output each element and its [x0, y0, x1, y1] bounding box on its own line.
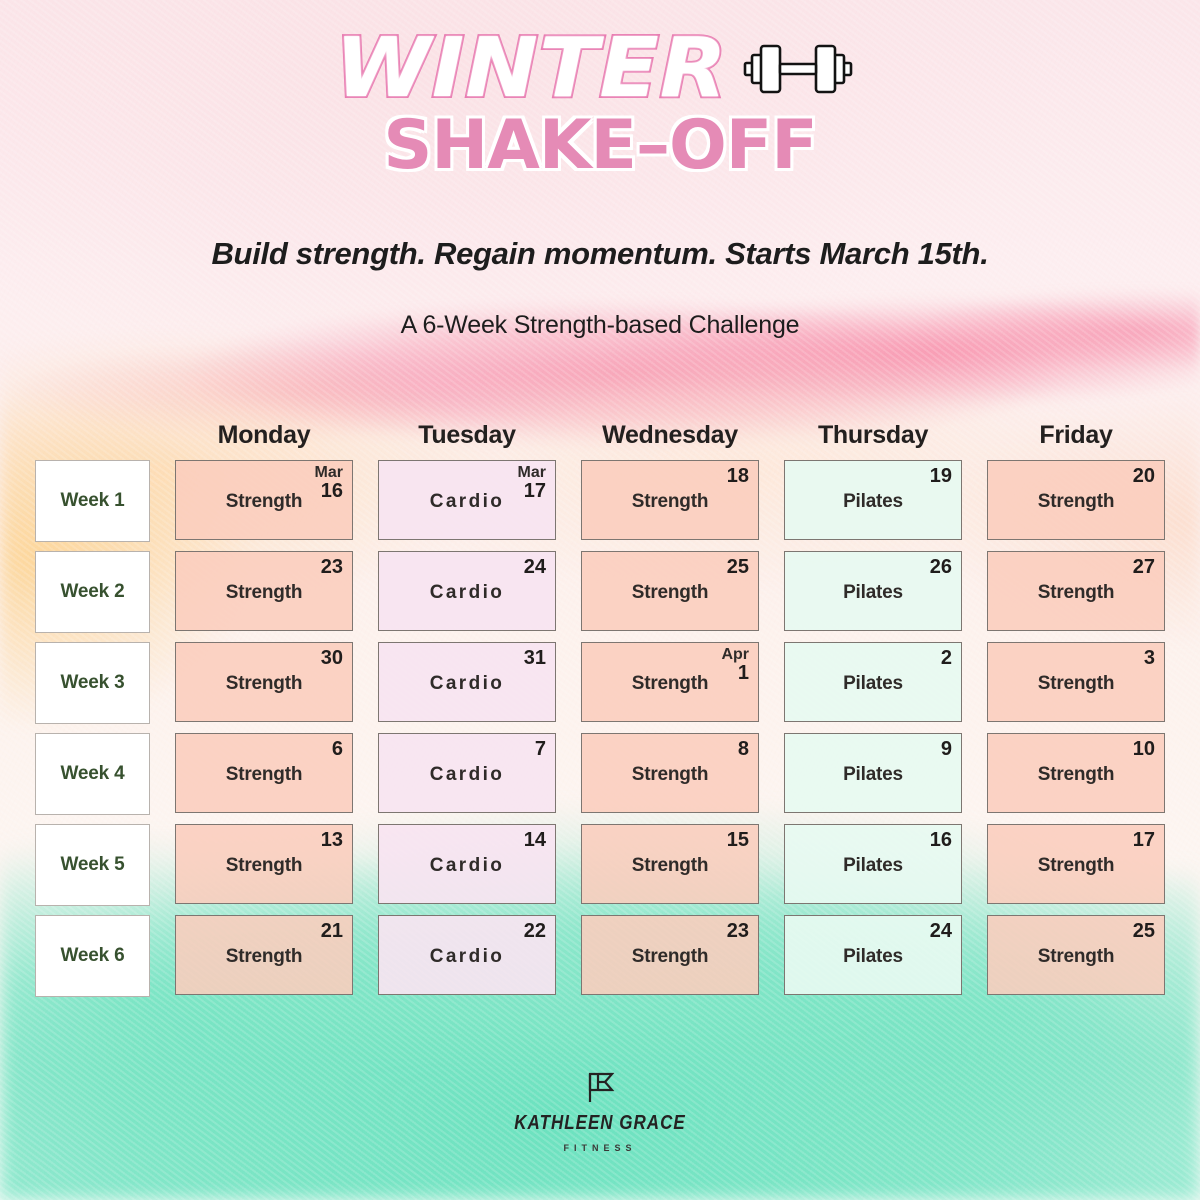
date-badge: Mar17 [518, 465, 546, 502]
day-header-thursday: Thursday [784, 421, 962, 450]
date-number: 27 [1133, 557, 1155, 577]
date-number: 16 [930, 830, 952, 850]
date-number: 24 [930, 921, 952, 941]
activity-label: Strength [632, 582, 709, 604]
day-cell-pilates[interactable]: Pilates19 [784, 460, 962, 540]
day-cell-strength[interactable]: Strength23 [581, 915, 759, 995]
date-number: 8 [738, 739, 749, 759]
day-cell-pilates[interactable]: Pilates9 [784, 733, 962, 813]
date-number: 9 [941, 739, 952, 759]
date-badge: 24 [524, 557, 546, 577]
header-title-block: WINTER SHAKE–OFF [0, 26, 1200, 184]
date-number: 17 [518, 481, 546, 501]
date-number: 31 [524, 648, 546, 668]
poster-title-shake-off: SHAKE–OFF [0, 108, 1200, 184]
activity-label: Strength [1038, 946, 1115, 968]
kg-flag-logo-icon [585, 1072, 615, 1109]
date-badge: 20 [1133, 466, 1155, 486]
brand-footer: KATHLEEN GRACE FITNESS [0, 1072, 1200, 1153]
activity-label: Pilates [843, 764, 903, 786]
date-badge: 2 [941, 648, 952, 668]
date-badge: 22 [524, 921, 546, 941]
activity-label: Strength [226, 491, 303, 513]
day-cell-strength[interactable]: Strength17 [987, 824, 1165, 904]
date-badge: 25 [727, 557, 749, 577]
date-number: 15 [727, 830, 749, 850]
date-badge: 27 [1133, 557, 1155, 577]
day-cell-strength[interactable]: Strength23 [175, 551, 353, 631]
day-cell-strength[interactable]: Strength15 [581, 824, 759, 904]
activity-label: Pilates [843, 855, 903, 877]
activity-label: Strength [1038, 491, 1115, 513]
activity-label: Strength [1038, 673, 1115, 695]
day-cell-strength[interactable]: Strength25 [581, 551, 759, 631]
calendar-week-row: Week 4Strength6Cardio7Strength8Pilates9S… [35, 733, 1165, 815]
day-cell-strength[interactable]: Strength20 [987, 460, 1165, 540]
poster-canvas: WINTER SHAKE–OFF [0, 0, 1200, 1200]
day-cell-cardio[interactable]: Cardio31 [378, 642, 556, 722]
activity-label: Strength [226, 946, 303, 968]
date-number: 25 [1133, 921, 1155, 941]
date-badge: 17 [1133, 830, 1155, 850]
date-number: 22 [524, 921, 546, 941]
date-number: 7 [535, 739, 546, 759]
date-badge: 24 [930, 921, 952, 941]
day-cell-cardio[interactable]: Cardio24 [378, 551, 556, 631]
day-cell-strength[interactable]: Strength25 [987, 915, 1165, 995]
week-label-cell[interactable]: Week 2 [35, 551, 150, 633]
date-badge: 19 [930, 466, 952, 486]
date-badge: 16 [930, 830, 952, 850]
activity-label: Cardio [430, 582, 505, 604]
day-cell-strength[interactable]: Strength30 [175, 642, 353, 722]
date-badge: 13 [321, 830, 343, 850]
week-label-cell[interactable]: Week 5 [35, 824, 150, 906]
brand-name: KATHLEEN GRACE [514, 1111, 685, 1135]
week-label-cell[interactable]: Week 1 [35, 460, 150, 542]
week-label-cell[interactable]: Week 6 [35, 915, 150, 997]
date-badge: 25 [1133, 921, 1155, 941]
activity-label: Pilates [843, 582, 903, 604]
day-cell-strength[interactable]: Strength8 [581, 733, 759, 813]
poster-subtitle: A 6-Week Strength-based Challenge [0, 311, 1200, 340]
date-number: 16 [315, 481, 343, 501]
calendar-week-row: Week 2Strength23Cardio24Strength25Pilate… [35, 551, 1165, 633]
day-header-friday: Friday [987, 421, 1165, 450]
date-badge: Apr1 [721, 647, 749, 684]
activity-label: Cardio [430, 946, 505, 968]
activity-label: Strength [226, 673, 303, 695]
day-cell-cardio[interactable]: CardioMar17 [378, 460, 556, 540]
date-number: 23 [727, 921, 749, 941]
week-label-cell[interactable]: Week 4 [35, 733, 150, 815]
day-cell-pilates[interactable]: Pilates26 [784, 551, 962, 631]
title-line-one-row: WINTER [0, 26, 1200, 112]
day-header-row: Monday Tuesday Wednesday Thursday Friday [35, 410, 1165, 460]
activity-label: Pilates [843, 491, 903, 513]
date-number: 30 [321, 648, 343, 668]
activity-label: Cardio [430, 491, 505, 513]
date-number: 10 [1133, 739, 1155, 759]
day-cell-strength[interactable]: Strength21 [175, 915, 353, 995]
activity-label: Strength [1038, 582, 1115, 604]
date-badge: 10 [1133, 739, 1155, 759]
activity-label: Pilates [843, 673, 903, 695]
day-cell-strength[interactable]: Strength6 [175, 733, 353, 813]
day-cell-pilates[interactable]: Pilates2 [784, 642, 962, 722]
activity-label: Strength [226, 855, 303, 877]
date-badge: 21 [321, 921, 343, 941]
activity-label: Strength [1038, 855, 1115, 877]
date-number: 1 [721, 663, 749, 683]
date-badge: 31 [524, 648, 546, 668]
date-month-label: Mar [518, 465, 546, 481]
day-cell-pilates[interactable]: Pilates24 [784, 915, 962, 995]
activity-label: Strength [632, 855, 709, 877]
day-header-wednesday: Wednesday [581, 421, 759, 450]
date-number: 17 [1133, 830, 1155, 850]
day-cell-strength[interactable]: Strength3 [987, 642, 1165, 722]
date-number: 19 [930, 466, 952, 486]
date-badge: 23 [321, 557, 343, 577]
activity-label: Cardio [430, 673, 505, 695]
date-month-label: Apr [721, 647, 749, 663]
date-badge: 3 [1144, 648, 1155, 668]
day-header-tuesday: Tuesday [378, 421, 556, 450]
date-number: 14 [524, 830, 546, 850]
activity-label: Strength [632, 946, 709, 968]
date-number: 2 [941, 648, 952, 668]
day-cell-cardio[interactable]: Cardio14 [378, 824, 556, 904]
activity-label: Strength [632, 764, 709, 786]
poster-tagline: Build strength. Regain momentum. Starts … [0, 236, 1200, 272]
date-number: 26 [930, 557, 952, 577]
day-cell-strength[interactable]: Strength10 [987, 733, 1165, 813]
poster-title-winter: WINTER [335, 26, 728, 112]
week-label-cell[interactable]: Week 3 [35, 642, 150, 724]
date-badge: 26 [930, 557, 952, 577]
calendar-weeks-container: Week 1StrengthMar16CardioMar17Strength18… [35, 460, 1165, 997]
activity-label: Strength [632, 673, 709, 695]
day-cell-cardio[interactable]: Cardio7 [378, 733, 556, 813]
activity-label: Strength [226, 764, 303, 786]
activity-label: Strength [632, 491, 709, 513]
day-cell-strength[interactable]: StrengthMar16 [175, 460, 353, 540]
date-number: 20 [1133, 466, 1155, 486]
date-number: 3 [1144, 648, 1155, 668]
date-number: 6 [332, 739, 343, 759]
activity-label: Cardio [430, 764, 505, 786]
day-cell-strength[interactable]: Strength27 [987, 551, 1165, 631]
calendar-week-row: Week 6Strength21Cardio22Strength23Pilate… [35, 915, 1165, 997]
date-number: 18 [727, 466, 749, 486]
date-badge: 30 [321, 648, 343, 668]
date-number: 13 [321, 830, 343, 850]
date-badge: Mar16 [315, 465, 343, 502]
date-badge: 8 [738, 739, 749, 759]
day-cell-cardio[interactable]: Cardio22 [378, 915, 556, 995]
day-cell-strength[interactable]: StrengthApr1 [581, 642, 759, 722]
challenge-calendar: Monday Tuesday Wednesday Thursday Friday… [35, 410, 1165, 1006]
activity-label: Cardio [430, 855, 505, 877]
calendar-week-row: Week 3Strength30Cardio31StrengthApr1Pila… [35, 642, 1165, 724]
date-number: 24 [524, 557, 546, 577]
day-cell-strength[interactable]: Strength13 [175, 824, 353, 904]
activity-label: Pilates [843, 946, 903, 968]
activity-label: Strength [226, 582, 303, 604]
date-number: 21 [321, 921, 343, 941]
day-header-monday: Monday [175, 421, 353, 450]
date-month-label: Mar [315, 465, 343, 481]
date-badge: 18 [727, 466, 749, 486]
date-badge: 23 [727, 921, 749, 941]
date-badge: 9 [941, 739, 952, 759]
calendar-week-row: Week 5Strength13Cardio14Strength15Pilate… [35, 824, 1165, 906]
calendar-week-row: Week 1StrengthMar16CardioMar17Strength18… [35, 460, 1165, 542]
date-number: 25 [727, 557, 749, 577]
date-number: 23 [321, 557, 343, 577]
dumbbell-icon [742, 40, 854, 103]
date-badge: 6 [332, 739, 343, 759]
brand-sub-label: FITNESS [563, 1143, 636, 1153]
date-badge: 15 [727, 830, 749, 850]
date-badge: 14 [524, 830, 546, 850]
date-badge: 7 [535, 739, 546, 759]
activity-label: Strength [1038, 764, 1115, 786]
day-cell-strength[interactable]: Strength18 [581, 460, 759, 540]
day-cell-pilates[interactable]: Pilates16 [784, 824, 962, 904]
